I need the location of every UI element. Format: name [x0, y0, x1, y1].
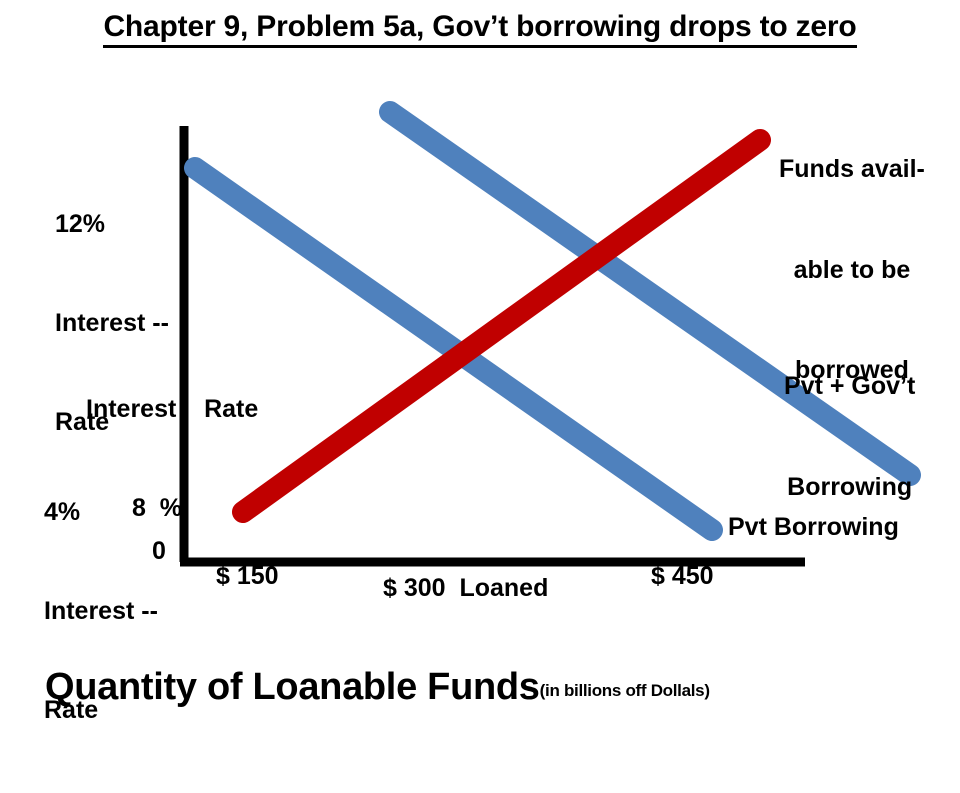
- x-axis-tick-label-450: $ 450: [651, 560, 714, 593]
- x-axis-tick-label-150: $ 150: [216, 560, 279, 593]
- y-axis-label-4-percent: 4% Interest -- Rate: [44, 430, 158, 793]
- legend-label-funds-available-line2: able to be: [779, 254, 925, 288]
- y-axis-label-4-percent-line1: 4%: [44, 496, 158, 529]
- y-axis-label-4-percent-line2: Interest --: [44, 595, 158, 628]
- x-axis-tick-label-300: $ 300 Loaned: [383, 572, 548, 605]
- y-axis-label-12-percent-line1: 12%: [55, 208, 169, 241]
- x-axis-caption-sub: (in billions off Dollals): [540, 681, 710, 700]
- slide-canvas: Chapter 9, Problem 5a, Gov’t borrowing d…: [0, 0, 960, 720]
- legend-label-funds-available-line1: Funds avail-: [779, 153, 925, 187]
- y-axis-origin-label: 0: [152, 535, 166, 568]
- legend-label-pvt-borrowing: Pvt Borrowing: [728, 511, 899, 544]
- legend-label-pvt-gov-borrowing-line1: Pvt + Gov’t: [784, 370, 915, 404]
- legend-label-pvt-gov-borrowing-line2: Borrowing: [784, 471, 915, 505]
- x-axis-caption-main: Quantity of Loanable Funds: [45, 666, 540, 708]
- y-axis-label-8-percent-line1: Interest Rate: [86, 393, 258, 426]
- x-axis-caption: Quantity of Loanable Funds(in billions o…: [45, 666, 710, 709]
